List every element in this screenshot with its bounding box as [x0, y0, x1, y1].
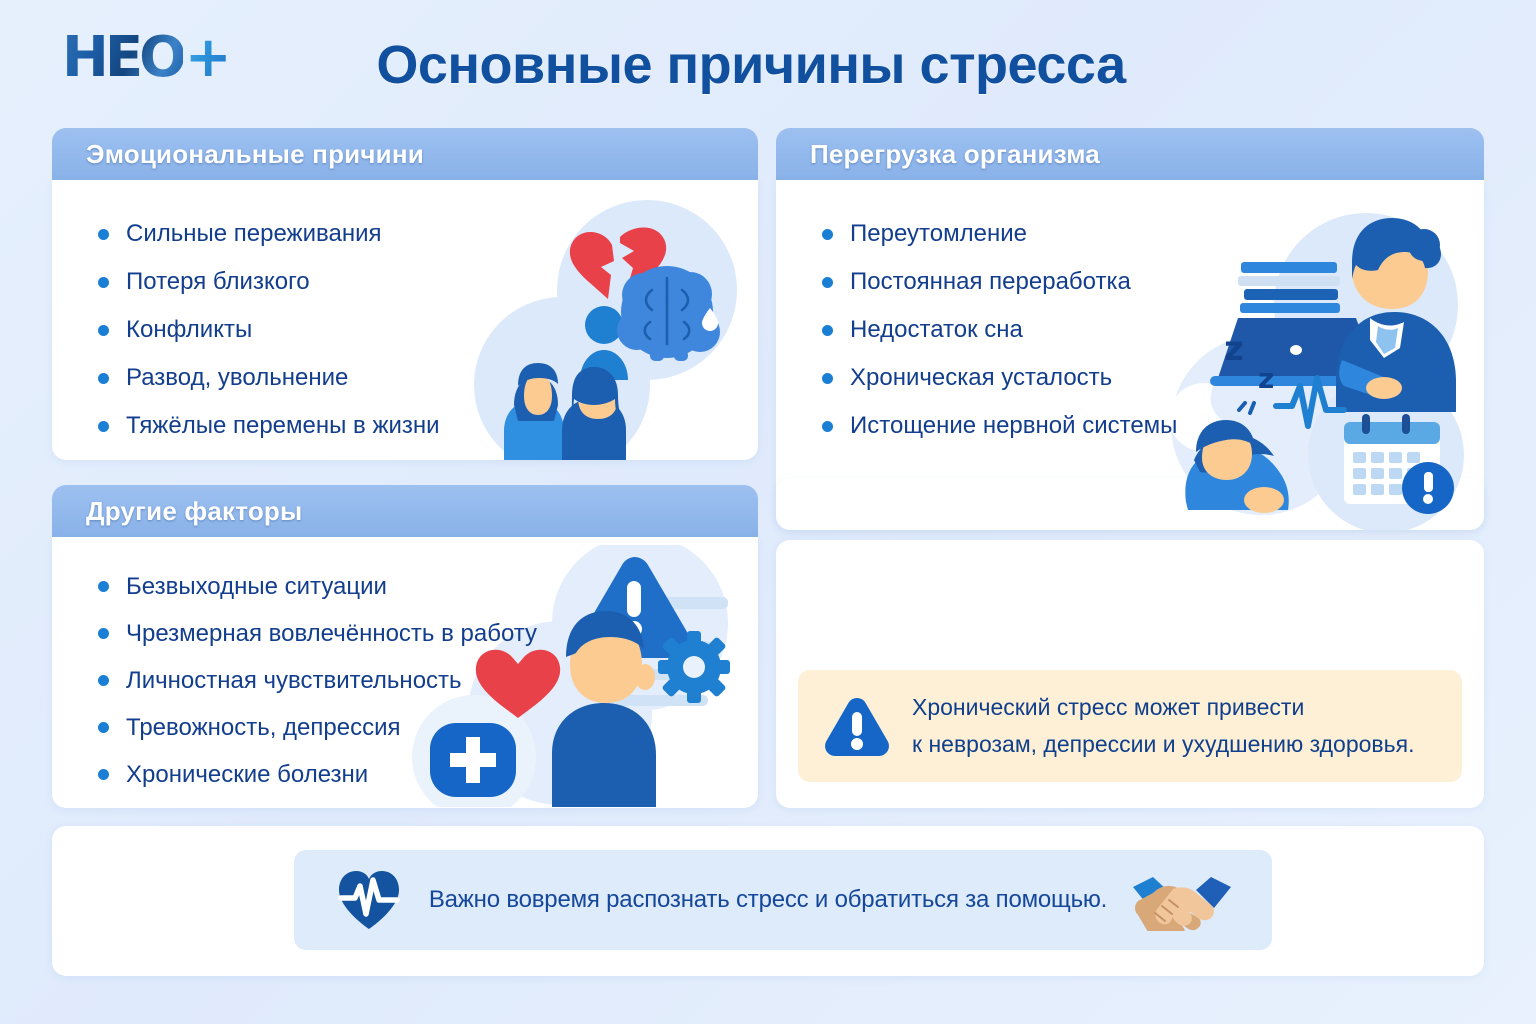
list-item-label: Хроническая усталость	[850, 364, 1112, 392]
list-item-label: Развод, увольнение	[126, 364, 348, 392]
bullet-icon	[822, 421, 833, 432]
bullet-icon	[98, 581, 109, 592]
warning-triangle-icon	[824, 695, 890, 757]
list-item-label: Постоянная переработка	[850, 268, 1131, 296]
warning-text: Хронический стресс может привести к невр…	[912, 689, 1414, 764]
bullet-icon	[98, 675, 109, 686]
list-item: Тревожность, депрессия	[98, 704, 758, 751]
heart-pulse-icon	[335, 868, 403, 932]
logo-plus-icon: +	[185, 25, 228, 90]
list-item: Тяжёлые перемены в жизни	[98, 402, 758, 450]
footer-card: Важно вовремя распознать стресс и обрати…	[52, 826, 1484, 976]
list-item-label: Безвыходные ситуации	[126, 573, 387, 601]
list-item: Недостаток сна	[822, 306, 1484, 354]
infographic-page: HEO + Основные причины стресса Эмоционал…	[0, 0, 1536, 1024]
page-title: Основные причины стресса	[356, 24, 1146, 106]
list-item: Истощение нервной системы	[822, 402, 1484, 450]
logo-wordmark: HEO	[62, 25, 183, 90]
warning-line-1: Хронический стресс может привести	[912, 689, 1414, 726]
bullet-icon	[98, 769, 109, 780]
card-overload-list: Переутомление Постоянная переработка Нед…	[822, 210, 1484, 450]
list-item: Развод, увольнение	[98, 354, 758, 402]
list-item: Личностная чувствительность	[98, 657, 758, 704]
card-emotional-list: Сильные переживания Потеря близкого Конф…	[98, 210, 758, 450]
bullet-icon	[822, 325, 833, 336]
list-item: Хроническая усталость	[822, 354, 1484, 402]
list-item-label: Переутомление	[850, 220, 1027, 248]
footer-banner: Важно вовремя распознать стресс и обрати…	[294, 850, 1272, 950]
bullet-icon	[98, 628, 109, 639]
card-other-body: Безвыходные ситуации Чрезмерная вовлечён…	[52, 537, 758, 808]
warning-callout: Хронический стресс может привести к невр…	[798, 670, 1462, 782]
list-item-label: Тревожность, депрессия	[126, 714, 401, 742]
list-item-label: Недостаток сна	[850, 316, 1023, 344]
card-emotional-title: Эмоциональные причини	[86, 139, 424, 170]
list-item-label: Сильные переживания	[126, 220, 381, 248]
list-item-label: Потеря близкого	[126, 268, 310, 296]
list-item-label: Чрезмерная вовлечённость в работу	[126, 620, 537, 648]
card-emotional: Эмоциональные причини	[52, 128, 758, 460]
list-item: Безвыходные ситуации	[98, 563, 758, 610]
footer-text: Важно вовремя распознать стресс и обрати…	[429, 886, 1107, 914]
list-item-label: Хронические болезни	[126, 761, 368, 789]
card-emotional-header: Эмоциональные причини	[52, 128, 758, 180]
bullet-icon	[98, 277, 109, 288]
list-item: Хронические болезни	[98, 751, 758, 798]
list-item: Постоянная переработка	[822, 258, 1484, 306]
card-overload-title: Перегрузка организма	[810, 139, 1100, 170]
bullet-icon	[822, 373, 833, 384]
bullet-icon	[98, 325, 109, 336]
list-item-label: Конфликты	[126, 316, 252, 344]
brand-logo: HEO +	[62, 26, 247, 88]
warning-card: Хронический стресс может привести к невр…	[776, 540, 1484, 808]
card-other-header: Другие факторы	[52, 485, 758, 537]
list-item: Переутомление	[822, 210, 1484, 258]
bullet-icon	[822, 229, 833, 240]
handshake-icon	[1133, 869, 1231, 931]
warning-line-2: к неврозам, депрессии и ухудшению здоров…	[912, 726, 1414, 763]
card-other-list: Безвыходные ситуации Чрезмерная вовлечён…	[98, 563, 758, 798]
card-emotional-body: Сильные переживания Потеря близкого Конф…	[52, 180, 758, 460]
list-item: Чрезмерная вовлечённость в работу	[98, 610, 758, 657]
list-item: Конфликты	[98, 306, 758, 354]
bullet-icon	[98, 722, 109, 733]
card-other-title: Другие факторы	[86, 496, 302, 527]
bullet-icon	[98, 229, 109, 240]
list-item-label: Истощение нервной системы	[850, 412, 1177, 440]
list-item: Сильные переживания	[98, 210, 758, 258]
bullet-icon	[98, 373, 109, 384]
spacer-card	[776, 478, 1484, 530]
list-item-label: Тяжёлые перемены в жизни	[126, 412, 440, 440]
bullet-icon	[98, 421, 109, 432]
card-overload: Перегрузка организма	[776, 128, 1484, 530]
card-other: Другие факторы	[52, 485, 758, 808]
bullet-icon	[822, 277, 833, 288]
list-item: Потеря близкого	[98, 258, 758, 306]
card-overload-header: Перегрузка организма	[776, 128, 1484, 180]
list-item-label: Личностная чувствительность	[126, 667, 462, 695]
